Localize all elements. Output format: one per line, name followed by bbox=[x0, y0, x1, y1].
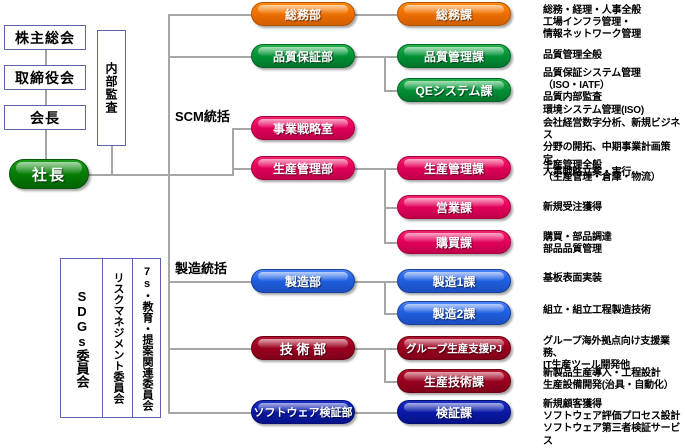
engineering-dept-pill: 技 術 部 bbox=[251, 336, 355, 360]
line-pm-out bbox=[355, 168, 385, 170]
committees-box: 7s・教育・提案関連委員会 リスクマネジメント委員会 SDGs委員会 bbox=[60, 258, 161, 418]
line-qa-riser bbox=[384, 56, 386, 90]
line-scm-bus bbox=[168, 174, 234, 176]
internal-audit-label: 内部監査 bbox=[103, 62, 120, 114]
general-affairs-section-label: 総務課 bbox=[436, 6, 472, 23]
line-mfg-out bbox=[355, 281, 385, 283]
production-management-section-pill: 生産管理課 bbox=[397, 156, 511, 180]
line-qa-to-quality-control bbox=[384, 56, 397, 58]
manufacturing-group-caption-label: 製造統括 bbox=[175, 261, 227, 276]
production-engineering-section-label: 生産技術課 bbox=[424, 373, 484, 390]
line-software-verification-to-section bbox=[355, 412, 397, 414]
quality-control-section-pill: 品質管理課 bbox=[397, 44, 511, 68]
line-chairman-to-president bbox=[45, 130, 47, 160]
desc-general-affairs: 総務・経理・人事全般 工場インフラ管理・ 情報ネットワーク管理 bbox=[543, 5, 641, 42]
production-management-dept-label: 生産管理部 bbox=[273, 160, 333, 177]
manufacturing-2-section-label: 製造2課 bbox=[433, 305, 476, 322]
verification-section-label: 検証課 bbox=[436, 404, 472, 421]
desc-qe-system: 品質保証システム管理 （ISO・IATF） 品質内部監査 環境システム管理(IS… bbox=[543, 68, 644, 117]
president-label: 社長 bbox=[32, 164, 66, 185]
manufacturing-group-caption: 製造統括 bbox=[175, 258, 227, 277]
manufacturing-dept-pill: 製造部 bbox=[251, 269, 355, 293]
purchasing-section-label: 購買課 bbox=[436, 234, 472, 251]
quality-assurance-dept-label: 品質保証部 bbox=[273, 48, 333, 65]
committee-7s-education: 7s・教育・提案関連委員会 bbox=[132, 259, 160, 417]
line-mfg-riser bbox=[384, 281, 386, 313]
line-shareholders-to-board bbox=[45, 50, 47, 65]
line-branch-engineering bbox=[168, 348, 252, 350]
president-pill: 社長 bbox=[9, 159, 89, 189]
committee-sdgs-label: SDGs委員会 bbox=[76, 289, 89, 388]
line-internal-audit-down bbox=[111, 146, 113, 175]
committee-risk-management: リスクマネジメント委員会 bbox=[102, 259, 132, 417]
line-mfg-to-manufacturing-1 bbox=[384, 281, 397, 283]
desc-verification: 新規顧客獲得 ソフトウェア評価プロセス設計 ソフトウェア第三者検証サービス bbox=[543, 399, 685, 448]
line-pm-to-purchasing bbox=[384, 242, 397, 244]
line-general-affairs-to-section bbox=[355, 14, 397, 16]
manufacturing-2-section-pill: 製造2課 bbox=[397, 301, 511, 325]
desc-manufacturing-2: 組立・組立工程製造技術 bbox=[543, 305, 651, 317]
desc-purchasing: 購買・部品調達 部品品質管理 bbox=[543, 232, 612, 256]
production-management-section-label: 生産管理課 bbox=[424, 160, 484, 177]
board-of-directors-label: 取締役会 bbox=[15, 68, 75, 88]
manufacturing-1-section-pill: 製造1課 bbox=[397, 269, 511, 293]
general-affairs-dept-pill: 総務部 bbox=[251, 2, 355, 26]
desc-production-management: 生産管理全般 （生産管理・倉庫・物流） bbox=[543, 160, 661, 184]
software-verification-dept-label: ソフトウェア検証部 bbox=[254, 404, 353, 420]
line-eng-to-group-production-support bbox=[384, 348, 397, 350]
desc-production-engineering: 新製品生産導入・工程設計 生産設備開発(治具・自動化） bbox=[543, 368, 674, 392]
line-branch-production-management bbox=[232, 168, 252, 170]
line-pm-to-sales bbox=[384, 207, 397, 209]
committee-7s-education-label: 7s・教育・提案関連委員会 bbox=[141, 266, 152, 411]
desc-sales: 新規受注獲得 bbox=[543, 202, 602, 214]
manufacturing-dept-label: 製造部 bbox=[285, 273, 321, 290]
quality-assurance-dept-pill: 品質保証部 bbox=[251, 44, 355, 68]
sales-section-label: 営業課 bbox=[436, 199, 472, 216]
shareholders-meeting-label: 株主総会 bbox=[15, 28, 75, 48]
production-engineering-section-pill: 生産技術課 bbox=[397, 369, 511, 393]
desc-manufacturing-1: 基板表面実装 bbox=[543, 273, 602, 285]
purchasing-section-pill: 購買課 bbox=[397, 230, 511, 254]
qe-system-section-label: QEシステム課 bbox=[416, 82, 493, 99]
verification-section-pill: 検証課 bbox=[397, 400, 511, 424]
line-branch-software-verification bbox=[168, 412, 252, 414]
engineering-dept-label: 技 術 部 bbox=[280, 339, 326, 358]
line-eng-out bbox=[355, 348, 385, 350]
line-eng-riser bbox=[384, 348, 386, 381]
business-strategy-office-label: 事業戦略室 bbox=[273, 120, 333, 137]
business-strategy-office-pill: 事業戦略室 bbox=[251, 116, 355, 140]
chairman-label: 会長 bbox=[30, 108, 60, 128]
line-branch-general-affairs bbox=[168, 14, 252, 16]
line-board-to-chairman bbox=[45, 90, 47, 105]
group-production-support-pj-pill: グループ生産支援PJ bbox=[397, 336, 511, 360]
line-branch-manufacturing bbox=[168, 281, 252, 283]
scm-group-caption: SCM統括 bbox=[175, 106, 230, 125]
general-affairs-dept-label: 総務部 bbox=[285, 6, 321, 23]
manufacturing-1-section-label: 製造1課 bbox=[433, 273, 476, 290]
line-pm-riser bbox=[384, 168, 386, 242]
board-of-directors-box: 取締役会 bbox=[4, 65, 86, 90]
desc-quality-control: 品質管理全般 bbox=[543, 50, 602, 62]
sales-section-pill: 営業課 bbox=[397, 195, 511, 219]
general-affairs-section-pill: 総務課 bbox=[397, 2, 511, 26]
line-president-trunk bbox=[88, 174, 170, 176]
production-management-dept-pill: 生産管理部 bbox=[251, 156, 355, 180]
line-mfg-to-manufacturing-2 bbox=[384, 313, 397, 315]
line-eng-to-production-engineering bbox=[384, 381, 397, 383]
line-qa-out bbox=[355, 56, 385, 58]
line-main-spine bbox=[168, 14, 170, 413]
organization-chart: 株主総会 取締役会 会長 内部監査 社長 7s・教育・提案関連委員会 リスクマネ… bbox=[0, 0, 685, 443]
line-qa-to-qe-system bbox=[384, 90, 397, 92]
chairman-box: 会長 bbox=[4, 105, 86, 130]
line-branch-quality-assurance bbox=[168, 56, 252, 58]
committee-sdgs: SDGs委員会 bbox=[62, 259, 102, 417]
line-branch-business-strategy bbox=[232, 128, 252, 130]
internal-audit-box: 内部監査 bbox=[97, 30, 126, 146]
shareholders-meeting-box: 株主総会 bbox=[4, 25, 86, 50]
line-pm-to-production-management bbox=[384, 168, 397, 170]
quality-control-section-label: 品質管理課 bbox=[424, 48, 484, 65]
group-production-support-pj-label: グループ生産支援PJ bbox=[406, 341, 502, 356]
scm-group-caption-label: SCM統括 bbox=[175, 109, 230, 124]
qe-system-section-pill: QEシステム課 bbox=[397, 78, 511, 102]
software-verification-dept-pill: ソフトウェア検証部 bbox=[251, 400, 355, 424]
committee-risk-management-label: リスクマネジメント委員会 bbox=[112, 272, 123, 404]
